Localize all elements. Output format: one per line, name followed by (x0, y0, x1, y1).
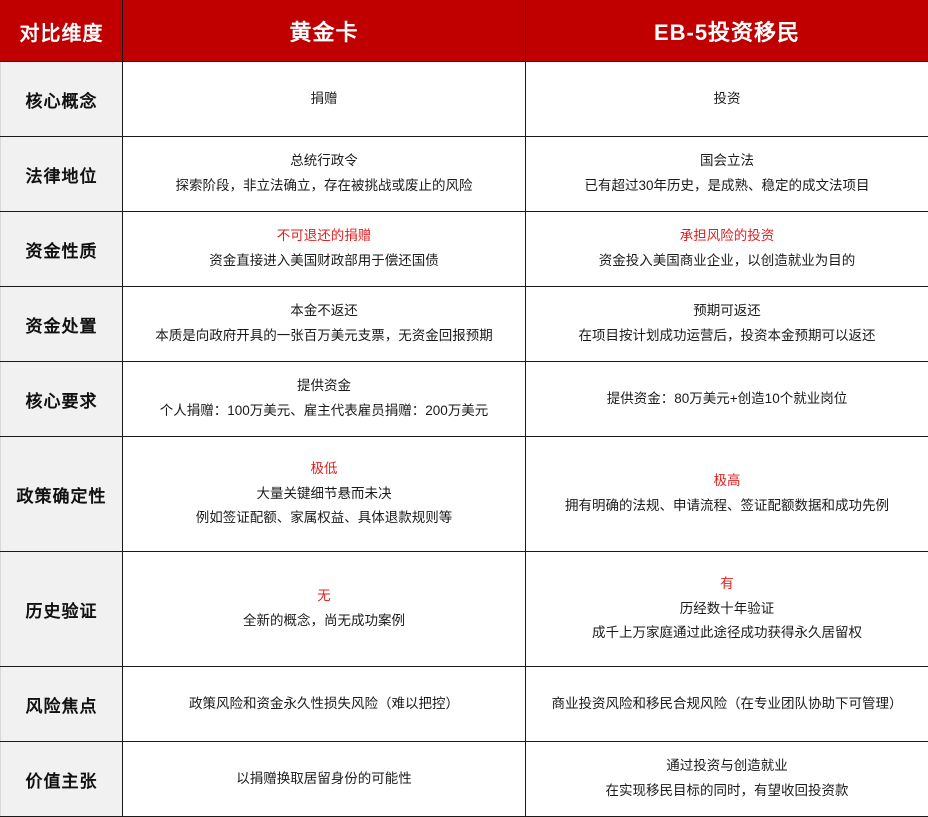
cell-eb5: 商业投资风险和移民合规风险（在专业团队协助下可管理） (526, 667, 928, 742)
cell-line: 商业投资风险和移民合规风险（在专业团队协助下可管理） (536, 692, 918, 717)
row-dimension-label: 价值主张 (1, 742, 123, 817)
cell-line-emphasis: 无 (133, 584, 515, 609)
cell-line: 预期可返还 (536, 299, 918, 324)
cell-eb5: 投资 (526, 62, 928, 137)
table-row: 核心要求 提供资金个人捐赠：100万美元、雇主代表雇员捐赠：200万美元 提供资… (1, 362, 928, 437)
column-header-dimension: 对比维度 (1, 1, 123, 62)
row-dimension-label: 核心要求 (1, 362, 123, 437)
cell-line: 通过投资与创造就业 (536, 754, 918, 779)
cell-gold-card: 无全新的概念，尚无成功案例 (123, 552, 526, 667)
table-row: 法律地位 总统行政令探索阶段，非立法确立，存在被挑战或废止的风险 国会立法已有超… (1, 137, 928, 212)
cell-line: 本质是向政府开具的一张百万美元支票，无资金回报预期 (133, 324, 515, 349)
column-header-gold-card: 黄金卡 (123, 1, 526, 62)
cell-line: 捐赠 (133, 87, 515, 112)
cell-line: 政策风险和资金永久性损失风险（难以把控） (133, 692, 515, 717)
comparison-table: 对比维度 黄金卡 EB-5投资移民 核心概念 捐赠 投资 法律地位 总统行政令探… (0, 0, 928, 817)
cell-line-emphasis: 极低 (133, 457, 515, 482)
cell-eb5: 通过投资与创造就业在实现移民目标的同时，有望收回投资款 (526, 742, 928, 817)
cell-line: 拥有明确的法规、申请流程、签证配额数据和成功先例 (536, 494, 918, 519)
table-body: 核心概念 捐赠 投资 法律地位 总统行政令探索阶段，非立法确立，存在被挑战或废止… (1, 62, 928, 817)
cell-line: 总统行政令 (133, 149, 515, 174)
cell-line: 在实现移民目标的同时，有望收回投资款 (536, 779, 918, 804)
table-row: 核心概念 捐赠 投资 (1, 62, 928, 137)
cell-line: 历经数十年验证 (536, 597, 918, 622)
cell-gold-card: 本金不返还本质是向政府开具的一张百万美元支票，无资金回报预期 (123, 287, 526, 362)
row-dimension-label: 资金性质 (1, 212, 123, 287)
cell-gold-card: 总统行政令探索阶段，非立法确立，存在被挑战或废止的风险 (123, 137, 526, 212)
cell-line: 在项目按计划成功运营后，投资本金预期可以返还 (536, 324, 918, 349)
cell-line-emphasis: 极高 (536, 469, 918, 494)
cell-line: 已有超过30年历史，是成熟、稳定的成文法项目 (536, 174, 918, 199)
cell-line: 资金投入美国商业企业，以创造就业为目的 (536, 249, 918, 274)
cell-line: 以捐赠换取居留身份的可能性 (133, 767, 515, 792)
row-dimension-label: 法律地位 (1, 137, 123, 212)
cell-eb5: 国会立法已有超过30年历史，是成熟、稳定的成文法项目 (526, 137, 928, 212)
cell-gold-card: 以捐赠换取居留身份的可能性 (123, 742, 526, 817)
cell-line: 个人捐赠：100万美元、雇主代表雇员捐赠：200万美元 (133, 399, 515, 424)
table-row: 资金性质 不可退还的捐赠资金直接进入美国财政部用于偿还国债 承担风险的投资资金投… (1, 212, 928, 287)
row-dimension-label: 历史验证 (1, 552, 123, 667)
row-dimension-label: 政策确定性 (1, 437, 123, 552)
cell-line: 全新的概念，尚无成功案例 (133, 609, 515, 634)
cell-eb5: 提供资金：80万美元+创造10个就业岗位 (526, 362, 928, 437)
cell-eb5: 预期可返还在项目按计划成功运营后，投资本金预期可以返还 (526, 287, 928, 362)
row-dimension-label: 风险焦点 (1, 667, 123, 742)
cell-line: 资金直接进入美国财政部用于偿还国债 (133, 249, 515, 274)
cell-gold-card: 捐赠 (123, 62, 526, 137)
table-row: 资金处置 本金不返还本质是向政府开具的一张百万美元支票，无资金回报预期 预期可返… (1, 287, 928, 362)
header-row: 对比维度 黄金卡 EB-5投资移民 (1, 1, 928, 62)
row-dimension-label: 核心概念 (1, 62, 123, 137)
cell-gold-card: 极低大量关键细节悬而未决例如签证配额、家属权益、具体退款规则等 (123, 437, 526, 552)
cell-eb5: 有历经数十年验证成千上万家庭通过此途径成功获得永久居留权 (526, 552, 928, 667)
cell-eb5: 极高拥有明确的法规、申请流程、签证配额数据和成功先例 (526, 437, 928, 552)
cell-line: 探索阶段，非立法确立，存在被挑战或废止的风险 (133, 174, 515, 199)
cell-line: 提供资金：80万美元+创造10个就业岗位 (536, 387, 918, 412)
cell-eb5: 承担风险的投资资金投入美国商业企业，以创造就业为目的 (526, 212, 928, 287)
cell-line: 大量关键细节悬而未决 (133, 482, 515, 507)
column-header-eb5: EB-5投资移民 (526, 1, 928, 62)
cell-gold-card: 提供资金个人捐赠：100万美元、雇主代表雇员捐赠：200万美元 (123, 362, 526, 437)
cell-gold-card: 政策风险和资金永久性损失风险（难以把控） (123, 667, 526, 742)
table-row: 历史验证 无全新的概念，尚无成功案例 有历经数十年验证成千上万家庭通过此途径成功… (1, 552, 928, 667)
cell-line: 成千上万家庭通过此途径成功获得永久居留权 (536, 621, 918, 646)
cell-gold-card: 不可退还的捐赠资金直接进入美国财政部用于偿还国债 (123, 212, 526, 287)
row-dimension-label: 资金处置 (1, 287, 123, 362)
table-row: 价值主张 以捐赠换取居留身份的可能性 通过投资与创造就业在实现移民目标的同时，有… (1, 742, 928, 817)
cell-line-emphasis: 承担风险的投资 (536, 224, 918, 249)
cell-line-emphasis: 不可退还的捐赠 (133, 224, 515, 249)
table-row: 政策确定性 极低大量关键细节悬而未决例如签证配额、家属权益、具体退款规则等 极高… (1, 437, 928, 552)
table-row: 风险焦点 政策风险和资金永久性损失风险（难以把控） 商业投资风险和移民合规风险（… (1, 667, 928, 742)
cell-line: 本金不返还 (133, 299, 515, 324)
cell-line: 提供资金 (133, 374, 515, 399)
cell-line-emphasis: 有 (536, 572, 918, 597)
cell-line: 投资 (536, 87, 918, 112)
cell-line: 国会立法 (536, 149, 918, 174)
table-header: 对比维度 黄金卡 EB-5投资移民 (1, 1, 928, 62)
cell-line: 例如签证配额、家属权益、具体退款规则等 (133, 506, 515, 531)
